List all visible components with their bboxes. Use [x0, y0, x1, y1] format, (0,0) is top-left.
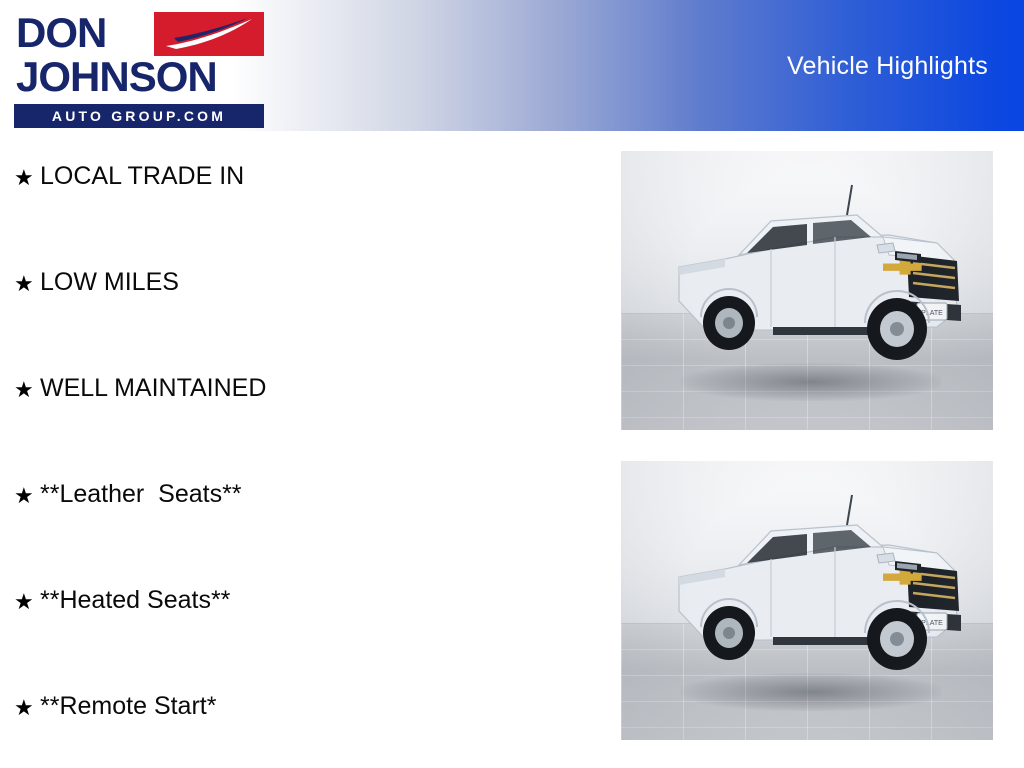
list-item: ★ WELL MAINTAINED [14, 373, 612, 479]
slide-page: DON JOHNSON AUTO GROUP.COM Vehicle Highl… [0, 0, 1024, 768]
list-item-label: LOW MILES [40, 267, 179, 297]
logo-line-2: JOHNSON [16, 56, 217, 98]
list-item: ★ **Heated Seats** [14, 585, 612, 691]
vehicle-highlights-list: ★ LOCAL TRADE IN ★ LOW MILES ★ WELL MAIN… [0, 131, 612, 768]
logo-line-1: DON [16, 12, 106, 54]
star-icon: ★ [14, 585, 40, 617]
list-item-label: LOCAL TRADE IN [40, 161, 244, 191]
star-icon: ★ [14, 161, 40, 193]
list-item-label: **Heated Seats** [40, 585, 230, 615]
list-item: ★ LOCAL TRADE IN [14, 161, 612, 267]
vehicle-photo-front-three-quarter-2: PLATE [621, 461, 993, 740]
logo-swoosh-icon [154, 12, 264, 56]
list-item: ★ **Remote Start* [14, 691, 612, 768]
logo-tagline: AUTO GROUP.COM [14, 104, 264, 128]
dealer-logo: DON JOHNSON AUTO GROUP.COM [14, 8, 264, 124]
star-icon: ★ [14, 479, 40, 511]
list-item-label: WELL MAINTAINED [40, 373, 266, 403]
list-item-label: **Leather Seats** [40, 479, 242, 509]
star-icon: ★ [14, 267, 40, 299]
star-icon: ★ [14, 373, 40, 405]
list-item-label: **Remote Start* [40, 691, 216, 721]
photo-vignette [621, 461, 993, 740]
photo-vignette [621, 151, 993, 430]
page-title: Vehicle Highlights [787, 52, 988, 81]
page-header: DON JOHNSON AUTO GROUP.COM Vehicle Highl… [0, 0, 1024, 131]
star-icon: ★ [14, 691, 40, 723]
vehicle-photo-front-three-quarter-1: PLATE [621, 151, 993, 430]
list-item: ★ LOW MILES [14, 267, 612, 373]
list-item: ★ **Leather Seats** [14, 479, 612, 585]
